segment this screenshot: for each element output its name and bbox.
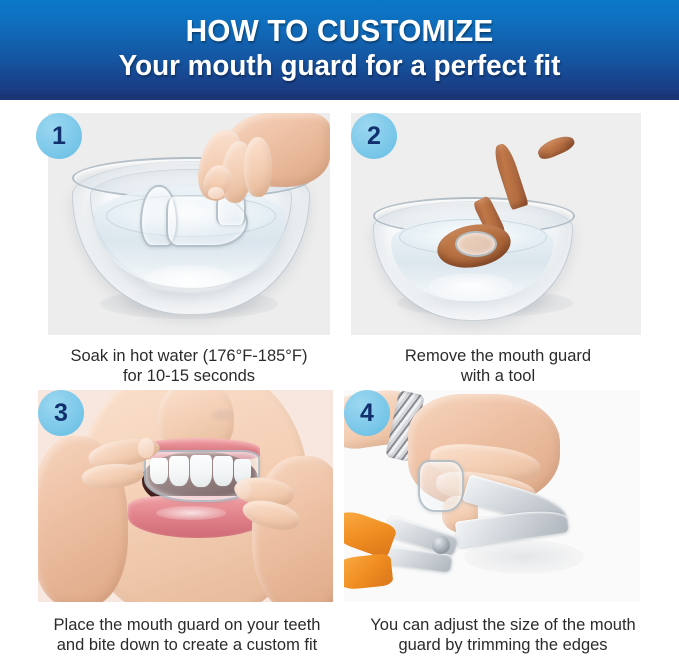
infographic-root: HOW TO CUSTOMIZE Your mouth guard for a … [0, 0, 679, 659]
step-4-caption: You can adjust the size of the mouth gua… [340, 615, 666, 655]
left-fingernail [138, 438, 154, 458]
header-bottom-strip [0, 94, 679, 100]
fingernail [208, 187, 224, 199]
mouth-guard-being-trimmed [418, 460, 464, 512]
spoon-handle-tip [535, 132, 576, 162]
scissor-handle-grip-lower [344, 553, 394, 591]
step-1-badge: 1 [36, 113, 82, 159]
mouth-guard-on-spoon [455, 231, 497, 257]
step-3-caption: Place the mouth guard on your teeth and … [24, 615, 350, 655]
nostril [210, 408, 234, 422]
scissor-rivet [432, 536, 450, 554]
step-4-photo [344, 390, 640, 602]
step-1-photo [48, 113, 330, 335]
step-2-badge: 2 [351, 113, 397, 159]
page-subtitle: Your mouth guard for a perfect fit [14, 50, 666, 83]
scissors-shadow [464, 540, 584, 574]
right-fingernail [236, 480, 251, 499]
step-2-caption: Remove the mouth guard with a tool [348, 346, 648, 386]
step-1-caption: Soak in hot water (176°F-185°F) for 10-1… [30, 346, 348, 386]
step-4-badge: 4 [344, 390, 390, 436]
lower-lip-highlight [156, 506, 226, 520]
bowl-highlight [429, 273, 513, 299]
page-title: HOW TO CUSTOMIZE [14, 13, 666, 49]
step-4-panel [344, 390, 640, 602]
step-1-panel [48, 113, 330, 335]
header-banner: HOW TO CUSTOMIZE Your mouth guard for a … [0, 0, 679, 100]
step-3-badge: 3 [38, 390, 84, 436]
finger-ring [244, 137, 272, 197]
illustration-trimming-guard-with-scissors [344, 390, 640, 602]
bowl-highlight [144, 265, 234, 293]
illustration-hand-dipping-guard [48, 113, 330, 335]
